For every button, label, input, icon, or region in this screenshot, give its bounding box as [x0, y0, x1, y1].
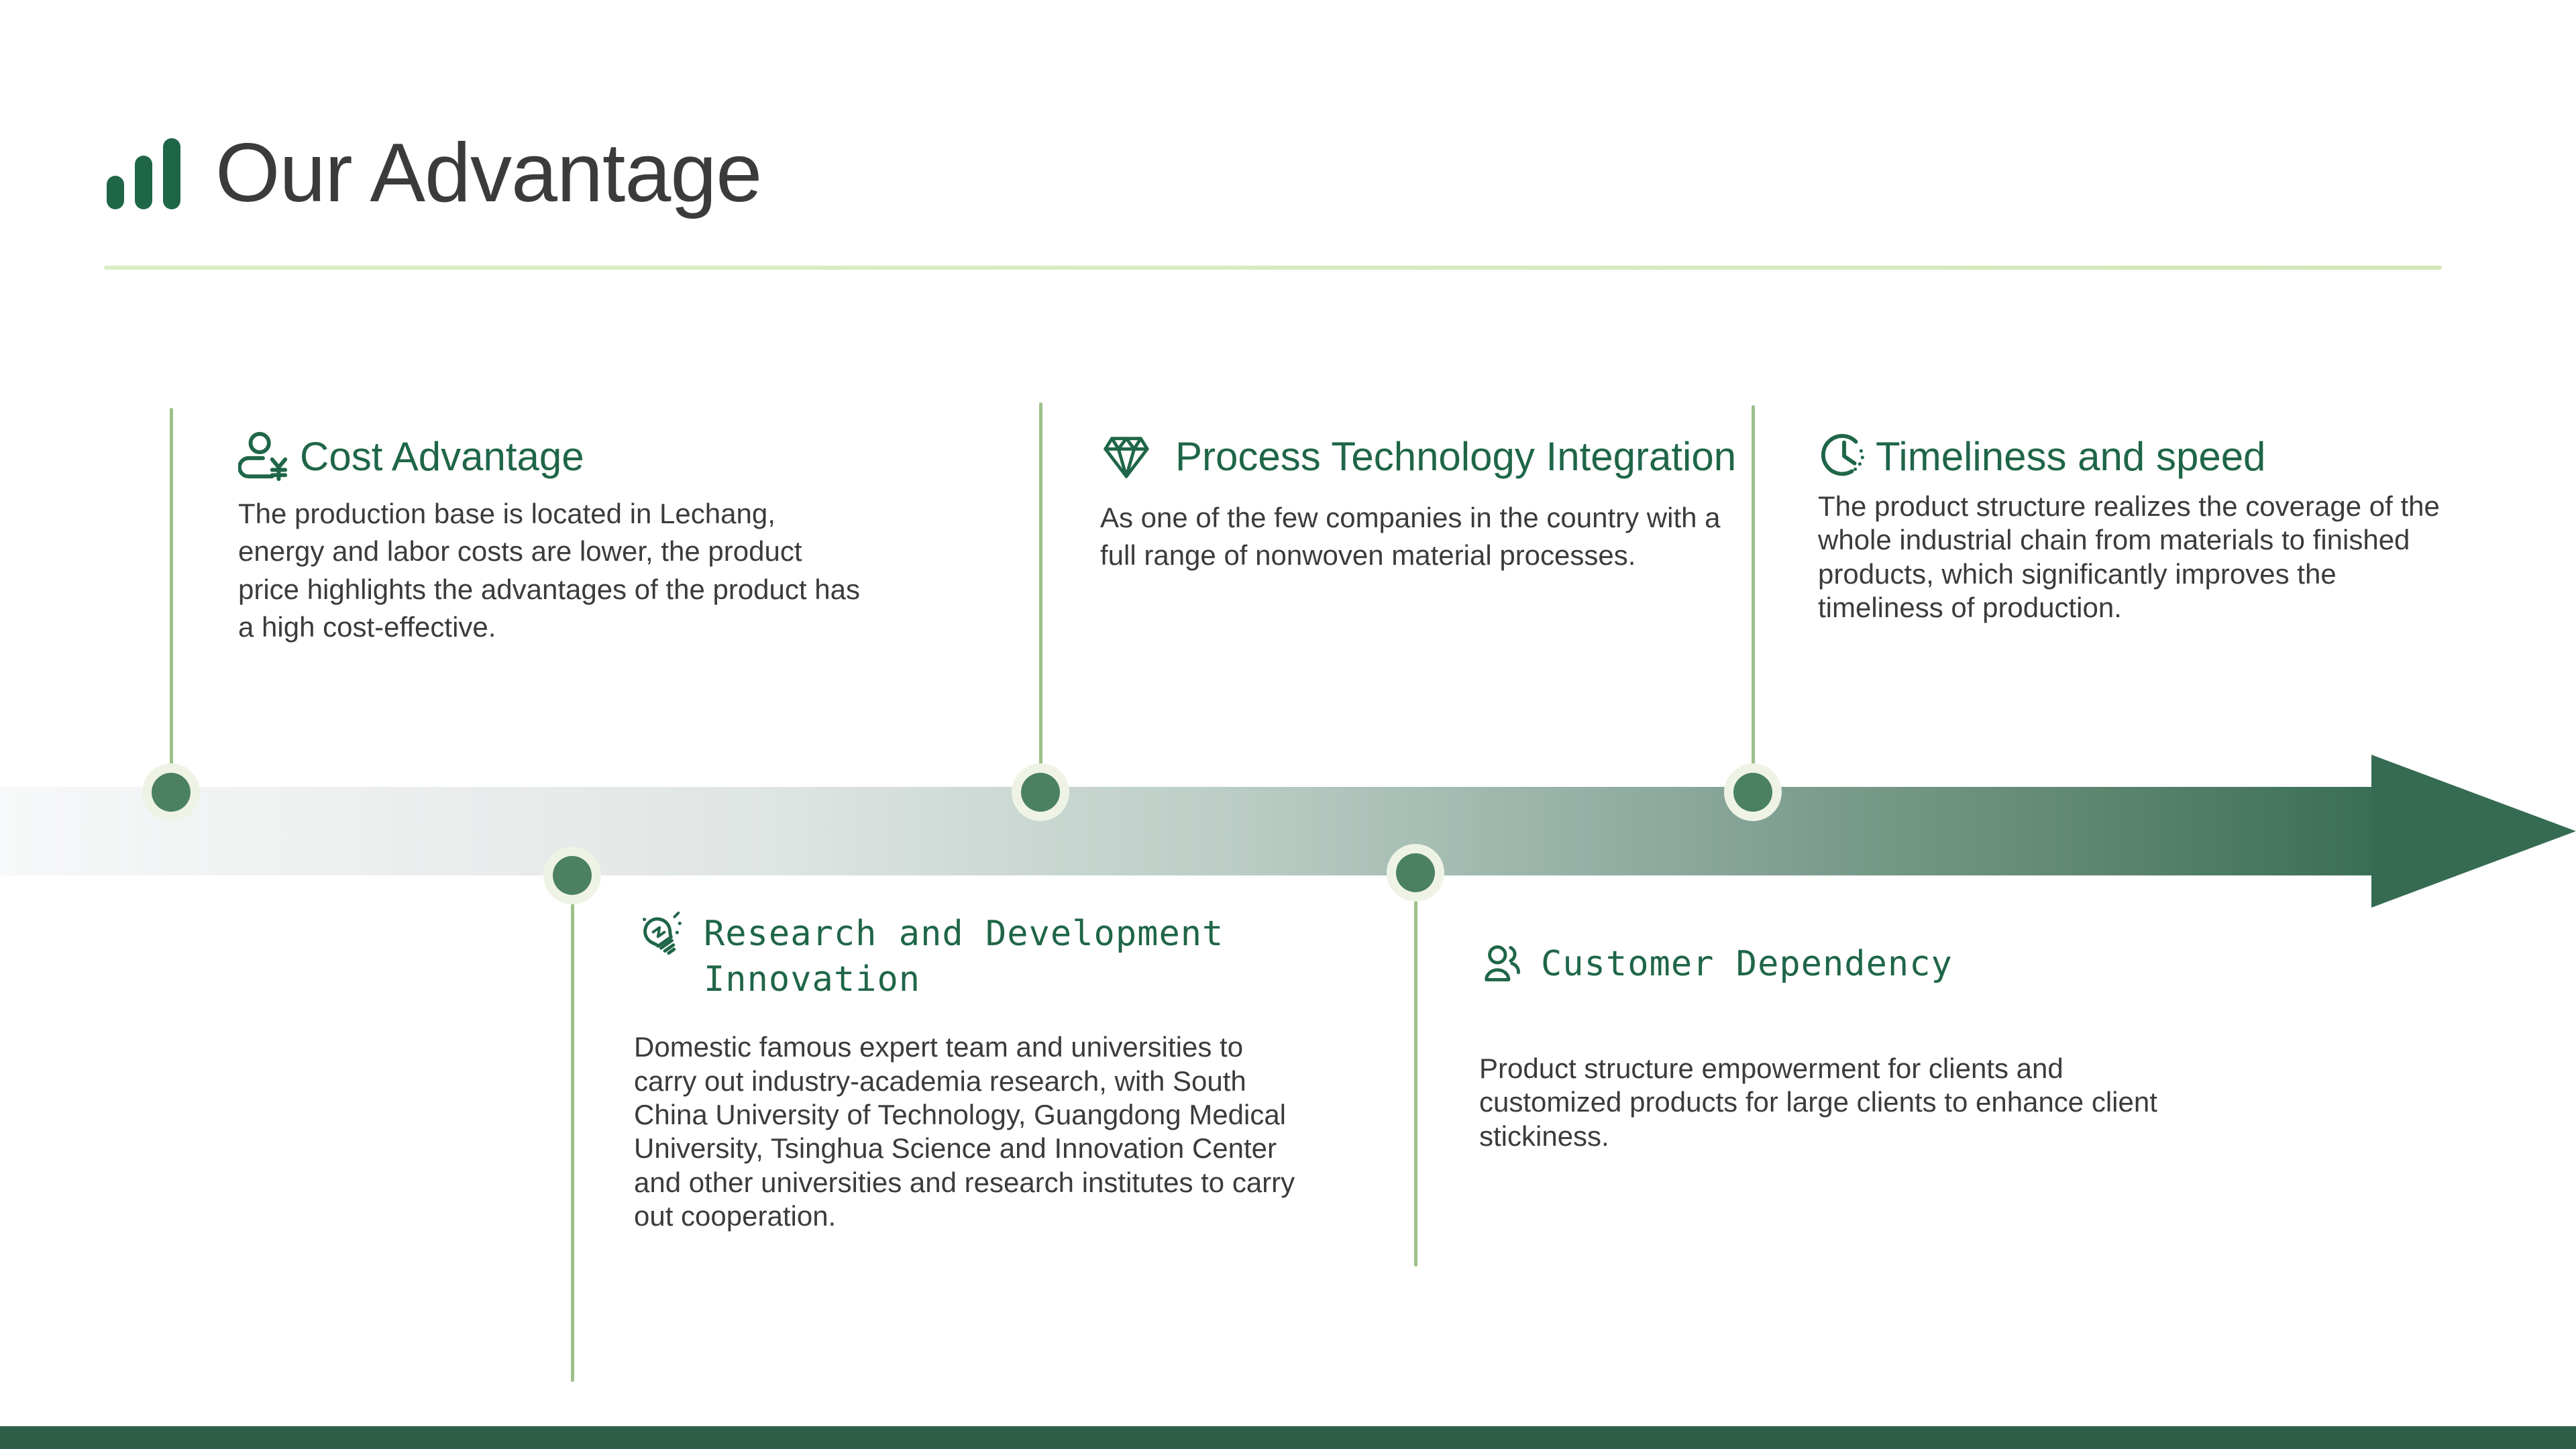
- slide-canvas: Our Advantage Cost A: [0, 0, 2576, 1449]
- slide-header: Our Advantage: [104, 127, 761, 211]
- card-header: Customer Dependency: [1479, 939, 2217, 991]
- users-icon: [1479, 939, 1532, 991]
- timeline-marker-1[interactable]: [142, 763, 200, 821]
- connector-line-3: [1039, 402, 1042, 795]
- lightbulb-idea-icon: [634, 909, 686, 961]
- card-header: Cost Advantage: [238, 429, 882, 482]
- connector-line-4: [1414, 871, 1417, 1267]
- footer-bar: [0, 1426, 2576, 1449]
- card-body: The production base is located in Lechan…: [238, 495, 862, 646]
- marker-dot: [1021, 773, 1060, 812]
- card-process-technology-integration[interactable]: Process Technology Integration As one of…: [1100, 429, 1744, 575]
- timeline-marker-5[interactable]: [1724, 763, 1782, 821]
- marker-dot: [1733, 773, 1772, 812]
- card-cost-advantage[interactable]: Cost Advantage The production base is lo…: [238, 429, 882, 646]
- card-body: As one of the few companies in the count…: [1100, 499, 1724, 575]
- card-header: Timeliness and speed: [1818, 429, 2462, 482]
- title-divider: [104, 266, 2442, 270]
- page-title: Our Advantage: [215, 131, 761, 215]
- timeline-arrow: [0, 787, 2576, 875]
- card-body: Product structure empowerment for client…: [1479, 1052, 2190, 1153]
- connector-line-1: [170, 408, 173, 794]
- card-customer-dependency[interactable]: Customer Dependency Product structure em…: [1479, 939, 2217, 1153]
- card-title: Research and Development Innovation: [704, 909, 1345, 1002]
- person-yen-icon: [238, 429, 290, 482]
- card-title: Timeliness and speed: [1876, 429, 2265, 481]
- card-title: Process Technology Integration: [1175, 429, 1736, 481]
- timeline-marker-4[interactable]: [1387, 844, 1444, 902]
- card-header: Research and Development Innovation: [634, 909, 1345, 1002]
- card-title: Customer Dependency: [1541, 939, 1953, 987]
- connector-line-2: [571, 872, 574, 1382]
- clock-icon: [1818, 429, 1870, 482]
- marker-dot: [553, 856, 592, 895]
- timeline-arrow-body: [0, 787, 2408, 875]
- diamond-icon: [1100, 429, 1152, 482]
- card-body: Domestic famous expert team and universi…: [634, 1030, 1305, 1233]
- card-research-and-development-innovation[interactable]: Research and Development Innovation Dome…: [634, 909, 1345, 1234]
- marker-dot: [1396, 853, 1435, 892]
- marker-dot: [152, 773, 191, 812]
- card-timeliness-and-speed[interactable]: Timeliness and speed The product structu…: [1818, 429, 2462, 625]
- card-body: The product structure realizes the cover…: [1818, 490, 2455, 625]
- timeline-arrow-head: [2371, 755, 2576, 908]
- connector-line-5: [1752, 405, 1755, 794]
- card-header: Process Technology Integration: [1100, 429, 1744, 482]
- bar-chart-icon: [104, 137, 191, 211]
- timeline-marker-3[interactable]: [1012, 763, 1069, 821]
- card-title: Cost Advantage: [300, 429, 584, 481]
- timeline-marker-2[interactable]: [543, 847, 601, 904]
